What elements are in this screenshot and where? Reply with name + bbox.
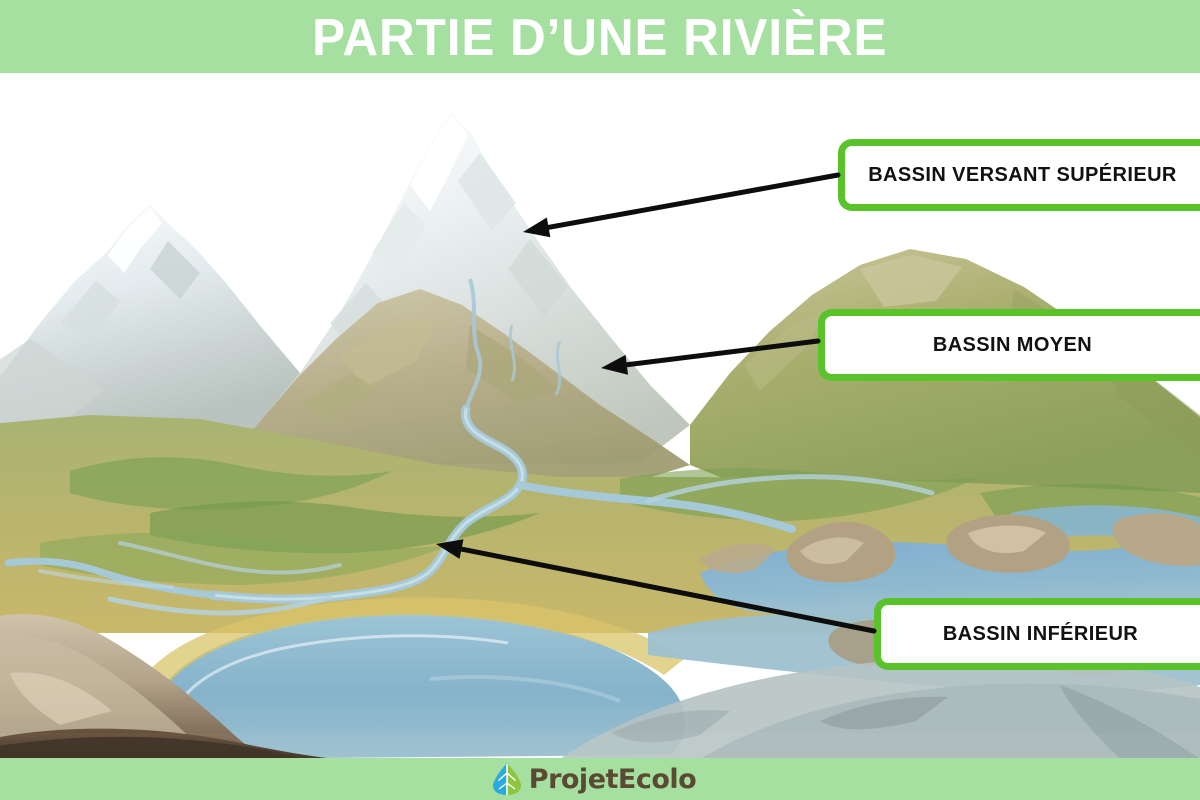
page-title: PARTIE D’UNE RIVIÈRE bbox=[312, 12, 887, 64]
header-band: PARTIE D’UNE RIVIÈRE bbox=[0, 0, 1200, 73]
callout-label-lower: BASSIN INFÉRIEUR bbox=[943, 624, 1138, 644]
leaf-droplet-icon bbox=[492, 762, 522, 796]
callout-label-middle: BASSIN MOYEN bbox=[933, 335, 1092, 355]
brand-name: ProjetEcolo bbox=[529, 766, 696, 793]
callout-bassin-inferieur[interactable]: BASSIN INFÉRIEUR bbox=[874, 598, 1200, 670]
callout-label-upper: BASSIN VERSANT SUPÉRIEUR bbox=[868, 165, 1177, 185]
brand-logo[interactable]: ProjetEcolo bbox=[492, 762, 696, 796]
infographic-poster: PARTIE D’UNE RIVIÈRE bbox=[0, 0, 1200, 800]
footer-band: ProjetEcolo bbox=[0, 758, 1200, 800]
callout-bassin-moyen[interactable]: BASSIN MOYEN bbox=[818, 309, 1200, 381]
callout-bassin-versant-superieur[interactable]: BASSIN VERSANT SUPÉRIEUR bbox=[838, 139, 1200, 211]
